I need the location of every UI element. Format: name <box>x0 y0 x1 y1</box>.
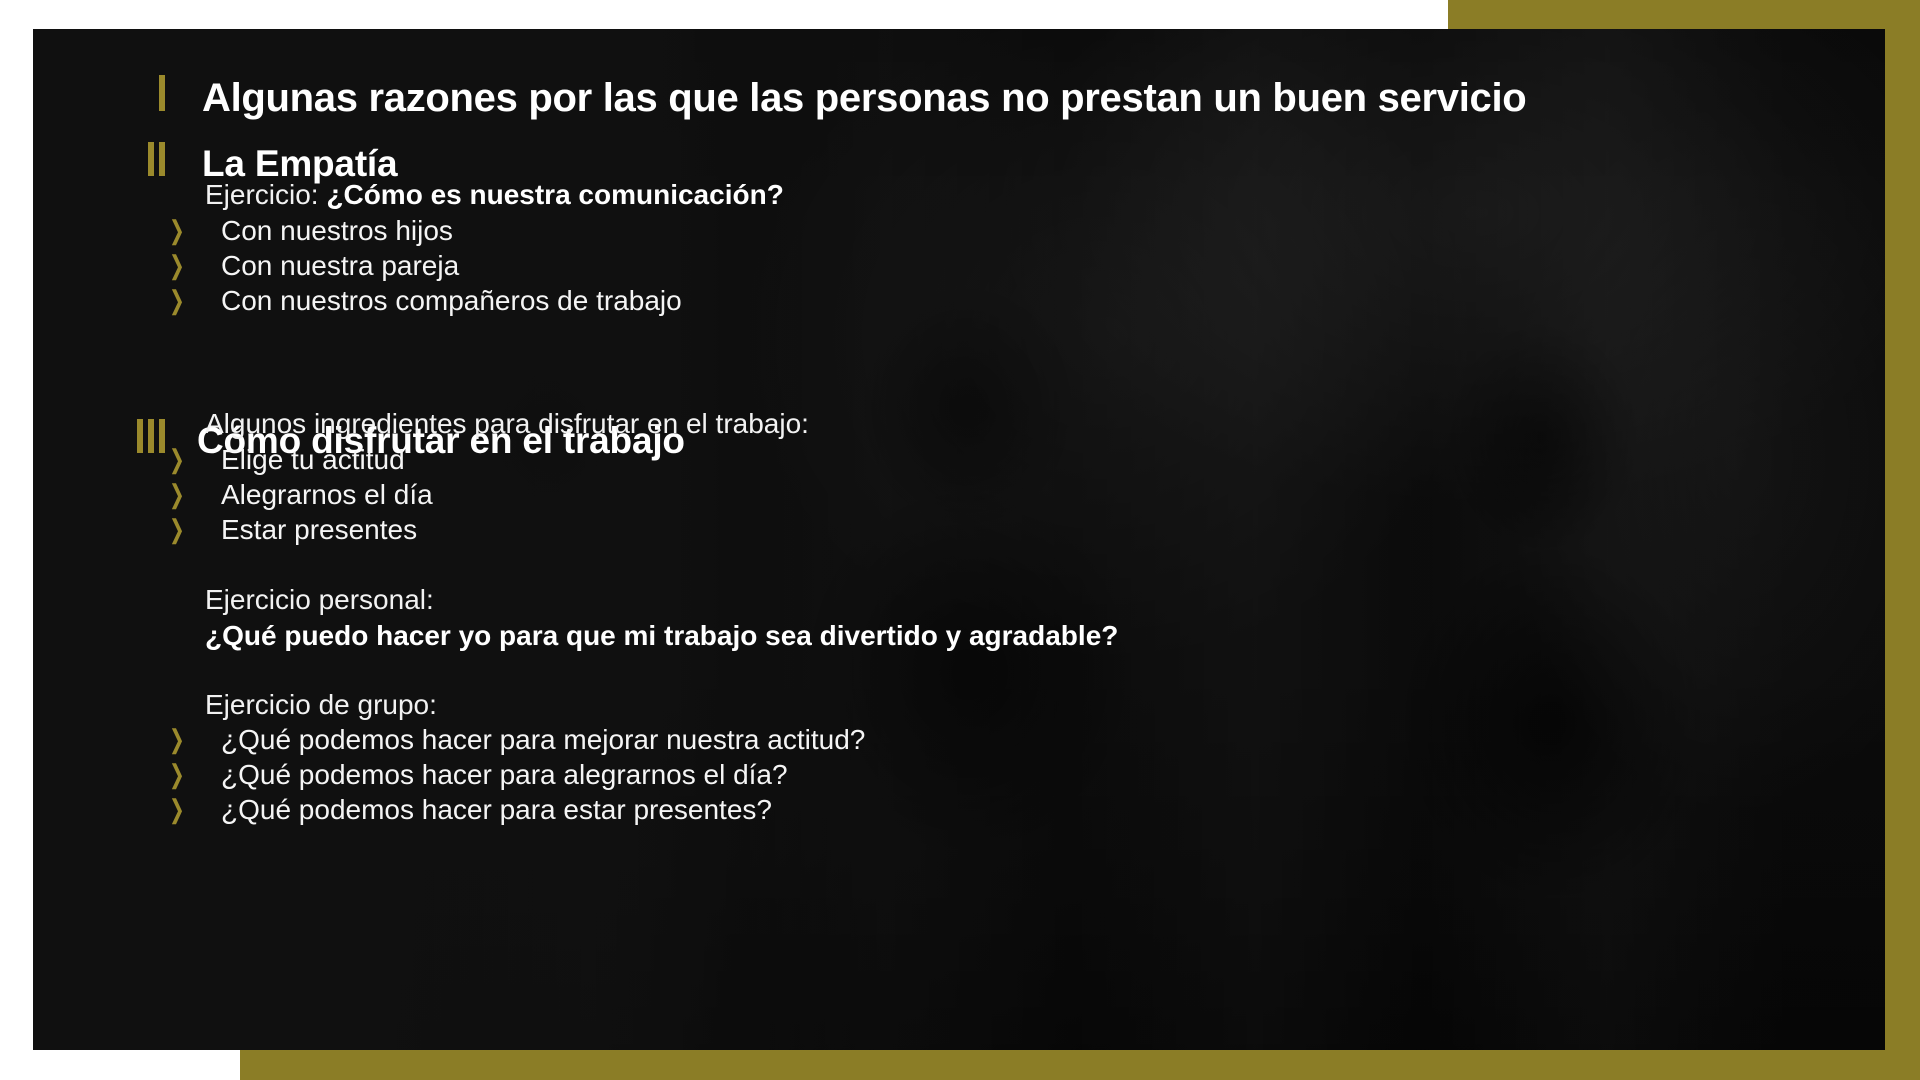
list-item-label: ¿Qué podemos hacer para alegrarnos el dí… <box>221 761 788 789</box>
chevron-right-icon: ❯ <box>169 516 185 542</box>
empatia-lead-bold: ¿Cómo es nuestra comunicación? <box>326 179 783 210</box>
list-item-label: Con nuestros hijos <box>221 217 453 245</box>
chevron-right-icon: ❯ <box>169 446 185 472</box>
list-item: ❯ ¿Qué podemos hacer para mejorar nuestr… <box>169 726 865 754</box>
chevron-right-icon: ❯ <box>169 761 185 787</box>
chevron-right-icon: ❯ <box>169 796 185 822</box>
list-item: ❯ ¿Qué podemos hacer para alegrarnos el … <box>169 761 788 789</box>
list-item-label: ¿Qué podemos hacer para estar presentes? <box>221 796 772 824</box>
list-item-label: Alegrarnos el día <box>221 481 433 509</box>
section-heading-1: Algunas razones por las que las personas… <box>103 75 1526 118</box>
personal-exercise-lead: Ejercicio personal: <box>205 586 434 614</box>
chevron-right-icon: ❯ <box>169 252 185 278</box>
chevron-right-icon: ❯ <box>169 287 185 313</box>
list-item-label: Elige tu actitud <box>221 446 405 474</box>
empatia-lead: Ejercicio: ¿Cómo es nuestra comunicación… <box>205 181 784 209</box>
list-item-label: Con nuestra pareja <box>221 252 459 280</box>
list-item-label: Con nuestros compañeros de trabajo <box>221 287 682 315</box>
group-exercise-lead: Ejercicio de grupo: <box>205 691 437 719</box>
slide-content: Algunas razones por las que las personas… <box>33 29 1885 1050</box>
chevron-right-icon: ❯ <box>169 726 185 752</box>
list-item: ❯ Elige tu actitud <box>169 446 405 474</box>
list-item: ❯ Estar presentes <box>169 516 417 544</box>
personal-exercise-question: ¿Qué puedo hacer yo para que mi trabajo … <box>205 622 1118 650</box>
list-item: ❯ ¿Qué podemos hacer para estar presente… <box>169 796 772 824</box>
disfrutar-lead: Algunos ingredientes para disfrutar en e… <box>205 410 809 438</box>
roman-numeral-ii-marker <box>103 142 165 176</box>
list-item: ❯ Con nuestros compañeros de trabajo <box>169 287 682 315</box>
slide-panel: Algunas razones por las que las personas… <box>33 29 1885 1050</box>
list-item: ❯ Con nuestros hijos <box>169 217 453 245</box>
section-heading-2: La Empatía <box>103 142 397 182</box>
list-item-label: Estar presentes <box>221 516 417 544</box>
slide-root: Algunas razones por las que las personas… <box>0 0 1920 1080</box>
empatia-lead-plain: Ejercicio: <box>205 179 326 210</box>
chevron-right-icon: ❯ <box>169 481 185 507</box>
list-item: ❯ Alegrarnos el día <box>169 481 433 509</box>
chevron-right-icon: ❯ <box>169 217 185 243</box>
section-title-1: Algunas razones por las que las personas… <box>202 78 1526 118</box>
roman-numeral-iii-marker <box>79 419 165 453</box>
list-item-label: ¿Qué podemos hacer para mejorar nuestra … <box>221 726 865 754</box>
list-item: ❯ Con nuestra pareja <box>169 252 459 280</box>
roman-numeral-i-marker <box>103 75 165 111</box>
section-title-2: La Empatía <box>202 145 397 182</box>
